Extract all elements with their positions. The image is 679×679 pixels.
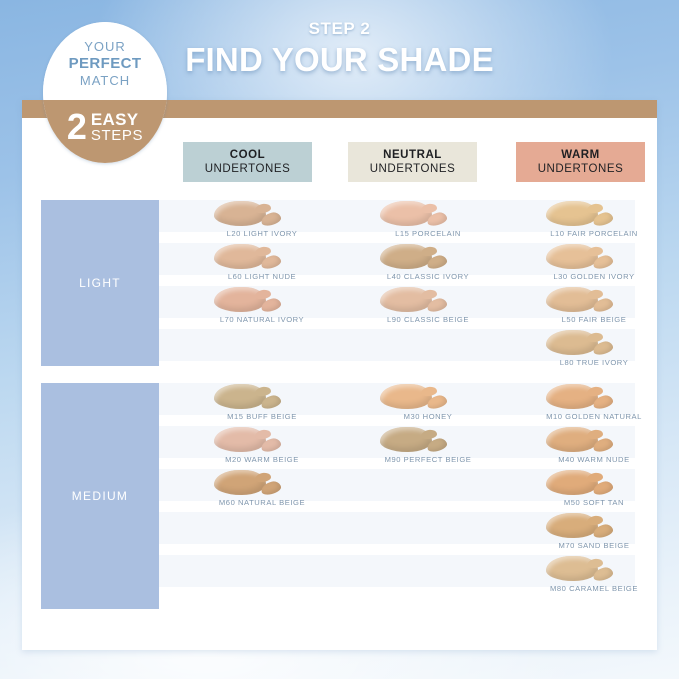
shade-name-label: L70 NATURAL IVORY: [182, 315, 342, 324]
shade-grid: LIGHTMEDIUML20 LIGHT IVORYL60 LIGHT NUDE…: [22, 200, 657, 620]
shade-cell[interactable]: L80 TRUE IVORY: [514, 329, 674, 372]
shade-cell[interactable]: L10 FAIR PORCELAIN: [514, 200, 674, 243]
shade-name-label: L80 TRUE IVORY: [514, 358, 674, 367]
swatch-blob: [380, 201, 432, 226]
swatch-blob: [214, 427, 266, 452]
swatch-blob: [380, 427, 432, 452]
foundation-swatch-icon: [380, 200, 450, 227]
shade-name-label: L60 LIGHT NUDE: [182, 272, 342, 281]
shade-name-label: M90 PERFECT BEIGE: [348, 455, 508, 464]
foundation-swatch-icon: [380, 286, 450, 313]
swatch-blob: [546, 201, 598, 226]
swatch-blob: [214, 201, 266, 226]
foundation-swatch-icon: [214, 200, 284, 227]
foundation-swatch-icon: [546, 555, 616, 582]
shade-name-label: L10 FAIR PORCELAIN: [514, 229, 674, 238]
shade-name-label: L50 FAIR BEIGE: [514, 315, 674, 324]
badge-easy-text: EASY: [91, 111, 139, 128]
swatch-blob: [380, 244, 432, 269]
shade-name-label: M60 NATURAL BEIGE: [182, 498, 342, 507]
shade-cell[interactable]: M10 GOLDEN NATURAL: [514, 383, 674, 426]
shade-name-label: L30 GOLDEN IVORY: [514, 272, 674, 281]
badge-perfect-text: PERFECT: [69, 55, 142, 73]
shade-name-label: M15 BUFF BEIGE: [182, 412, 342, 421]
undertone-header-warm: WARM UNDERTONES: [516, 142, 645, 182]
swatch-blob: [546, 287, 598, 312]
shade-name-label: L20 LIGHT IVORY: [182, 229, 342, 238]
foundation-swatch-icon: [546, 383, 616, 410]
shade-cell[interactable]: M40 WARM NUDE: [514, 426, 674, 469]
swatch-blob: [214, 470, 266, 495]
badge-steps-text: STEPS: [91, 128, 143, 144]
swatch-blob: [546, 556, 598, 581]
shade-cell[interactable]: M70 SAND BEIGE: [514, 512, 674, 555]
undertone-neutral-strong: NEUTRAL: [383, 148, 442, 162]
shade-cell[interactable]: M90 PERFECT BEIGE: [348, 426, 508, 469]
shade-cell[interactable]: L30 GOLDEN IVORY: [514, 243, 674, 286]
foundation-swatch-icon: [214, 286, 284, 313]
badge-bottom-half: 2 EASY STEPS: [43, 100, 167, 163]
undertone-cool-sub: UNDERTONES: [205, 162, 291, 176]
shade-cell[interactable]: M30 HONEY: [348, 383, 508, 426]
undertone-warm-strong: WARM: [561, 148, 600, 162]
shade-cell[interactable]: L50 FAIR BEIGE: [514, 286, 674, 329]
swatch-blob: [546, 513, 598, 538]
swatch-blob: [546, 330, 598, 355]
swatch-blob: [546, 427, 598, 452]
shade-cell[interactable]: L40 CLASSIC IVORY: [348, 243, 508, 286]
badge-your-text: YOUR: [84, 39, 126, 55]
shade-name-label: M50 SOFT TAN: [514, 498, 674, 507]
shade-cell[interactable]: M15 BUFF BEIGE: [182, 383, 342, 426]
swatch-blob: [546, 384, 598, 409]
shade-cell[interactable]: L20 LIGHT IVORY: [182, 200, 342, 243]
shade-name-label: L90 CLASSIC BEIGE: [348, 315, 508, 324]
undertone-warm-sub: UNDERTONES: [538, 162, 624, 176]
shade-cell[interactable]: L15 PORCELAIN: [348, 200, 508, 243]
badge-step-number: 2: [67, 112, 87, 143]
category-label: MEDIUM: [72, 489, 128, 503]
undertone-neutral-sub: UNDERTONES: [370, 162, 456, 176]
swatch-blob: [214, 384, 266, 409]
undertone-header-neutral: NEUTRAL UNDERTONES: [348, 142, 477, 182]
swatch-blob: [546, 470, 598, 495]
undertone-header-cool: COOL UNDERTONES: [183, 142, 312, 182]
shade-cell[interactable]: L90 CLASSIC BEIGE: [348, 286, 508, 329]
foundation-swatch-icon: [546, 469, 616, 496]
shade-name-label: M20 WARM BEIGE: [182, 455, 342, 464]
swatch-blob: [380, 287, 432, 312]
shade-name-label: L40 CLASSIC IVORY: [348, 272, 508, 281]
foundation-swatch-icon: [546, 426, 616, 453]
perfect-match-badge: YOUR PERFECT MATCH 2 EASY STEPS: [43, 22, 167, 163]
shade-cell[interactable]: M50 SOFT TAN: [514, 469, 674, 512]
category-block-light: LIGHT: [41, 200, 159, 366]
shade-cell[interactable]: M20 WARM BEIGE: [182, 426, 342, 469]
shade-name-label: M80 CARAMEL BEIGE: [514, 584, 674, 593]
foundation-swatch-icon: [546, 243, 616, 270]
shade-finder-infographic: STEP 2 FIND YOUR SHADE COOL UNDERTONES N…: [0, 0, 679, 679]
badge-top-half: YOUR PERFECT MATCH: [43, 22, 167, 100]
shade-cell[interactable]: L70 NATURAL IVORY: [182, 286, 342, 329]
swatch-blob: [214, 287, 266, 312]
foundation-swatch-icon: [380, 426, 450, 453]
shade-name-label: M70 SAND BEIGE: [514, 541, 674, 550]
shade-name-label: M10 GOLDEN NATURAL: [514, 412, 674, 421]
undertone-cool-strong: COOL: [230, 148, 265, 162]
shade-name-label: M40 WARM NUDE: [514, 455, 674, 464]
badge-match-text: MATCH: [80, 73, 130, 89]
foundation-swatch-icon: [380, 243, 450, 270]
shade-cell[interactable]: M60 NATURAL BEIGE: [182, 469, 342, 512]
shade-name-label: L15 PORCELAIN: [348, 229, 508, 238]
shade-cell[interactable]: L60 LIGHT NUDE: [182, 243, 342, 286]
shade-chart-card: COOL UNDERTONES NEUTRAL UNDERTONES WARM …: [22, 100, 657, 650]
swatch-blob: [214, 244, 266, 269]
shade-cell[interactable]: M80 CARAMEL BEIGE: [514, 555, 674, 598]
foundation-swatch-icon: [546, 286, 616, 313]
foundation-swatch-icon: [546, 512, 616, 539]
swatch-blob: [546, 244, 598, 269]
shade-name-label: M30 HONEY: [348, 412, 508, 421]
badge-steps-wrap: EASY STEPS: [91, 111, 143, 144]
foundation-swatch-icon: [546, 200, 616, 227]
foundation-swatch-icon: [214, 383, 284, 410]
swatch-blob: [380, 384, 432, 409]
foundation-swatch-icon: [214, 469, 284, 496]
foundation-swatch-icon: [214, 426, 284, 453]
category-label: LIGHT: [79, 276, 121, 290]
foundation-swatch-icon: [546, 329, 616, 356]
category-block-medium: MEDIUM: [41, 383, 159, 609]
foundation-swatch-icon: [214, 243, 284, 270]
foundation-swatch-icon: [380, 383, 450, 410]
